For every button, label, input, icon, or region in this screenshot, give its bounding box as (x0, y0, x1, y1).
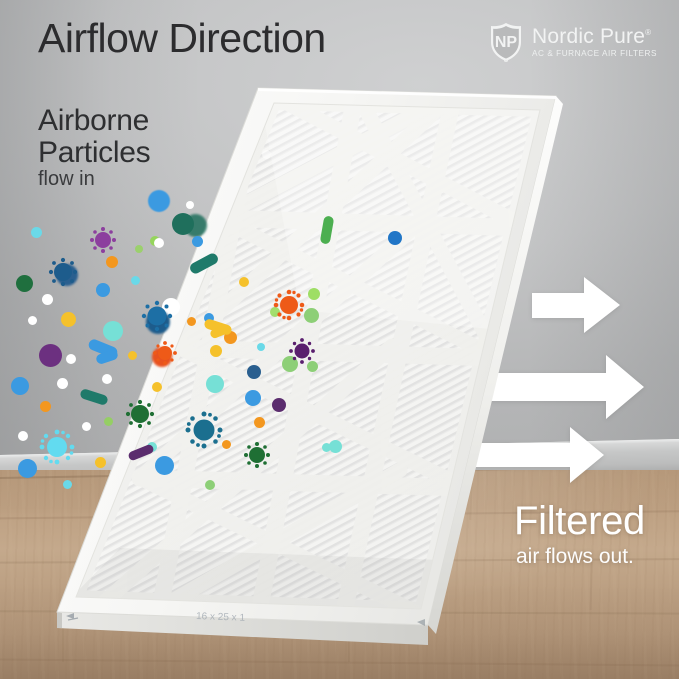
air-filter: 16 x 25 x 1 (0, 0, 679, 679)
illustration-canvas: 16 x 25 x 1 (0, 0, 679, 679)
airborne-callout-word1: Airborne (38, 105, 150, 137)
airborne-callout-word2: Particles (38, 137, 150, 169)
brand-name-text: Nordic Pure (532, 25, 645, 48)
brand-logo[interactable]: NP Nordic Pure® AC & FURNACE AIR FILTERS (489, 22, 657, 62)
page-title: Airflow Direction (38, 15, 326, 62)
filtered-callout-title: Filtered (514, 499, 645, 544)
airborne-callout-line3: flow in (38, 168, 95, 191)
airborne-callout-line1: Airborne Particles (38, 105, 150, 170)
filter-size-label: 16 x 25 x 1 (196, 611, 246, 624)
brand-tagline: AC & FURNACE AIR FILTERS (532, 50, 657, 58)
brand-name: Nordic Pure® (532, 26, 657, 47)
filtered-callout-sub: air flows out. (516, 545, 634, 569)
shield-initials: NP (495, 34, 518, 51)
registered-mark: ® (645, 28, 651, 37)
shield-icon: NP (489, 22, 523, 62)
